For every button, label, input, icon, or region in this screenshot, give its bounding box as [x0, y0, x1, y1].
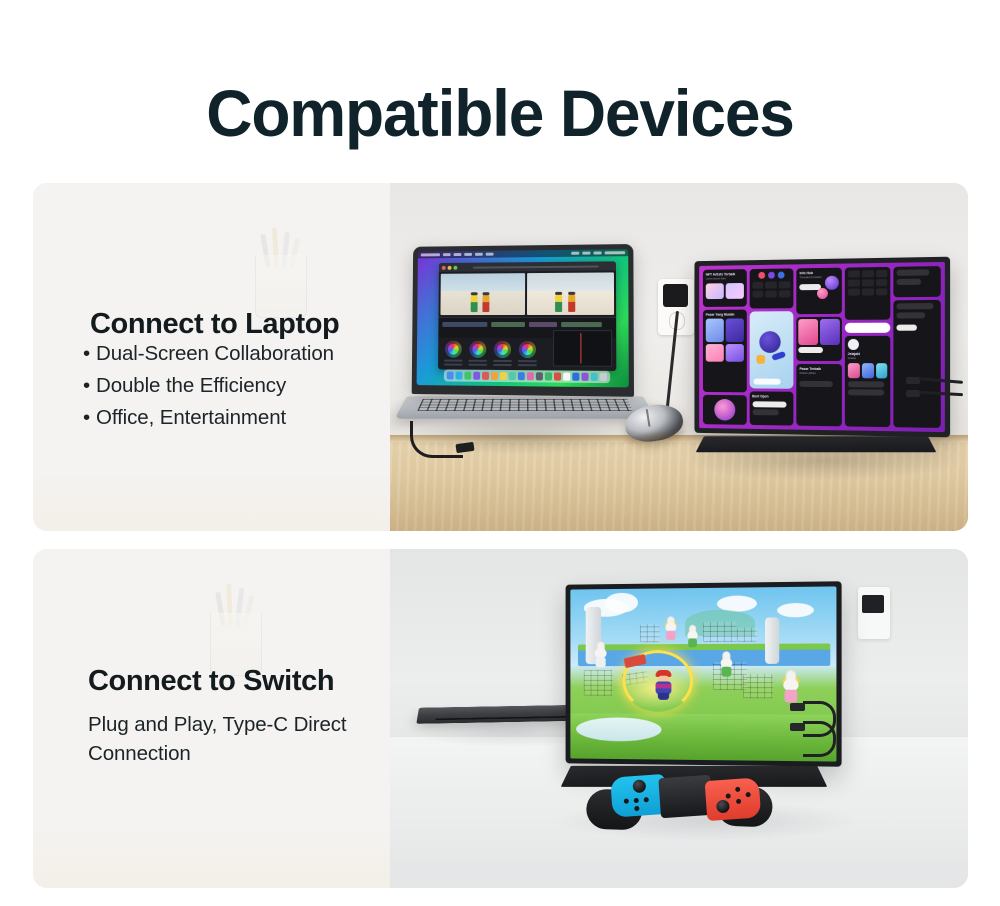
ui-card-nft-artists: NFT Artists Terbaik Lorem ipsum dolor: [703, 269, 746, 307]
ui-card-avatar: [703, 395, 746, 425]
brick-block: [640, 624, 660, 642]
panel-connect-to-switch: Connect to Switch Plug and Play, Type-C …: [33, 549, 968, 888]
character-mario: [654, 670, 672, 700]
ui-card-side-top: [894, 266, 941, 297]
ui-card-title: Pasar Yang Mudah: [706, 313, 744, 318]
mouse-seam: [646, 409, 651, 427]
power-adapter-icon: [663, 284, 688, 307]
monitor-bezel: NFT Artists Terbaik Lorem ipsum dolor Pa…: [694, 257, 950, 438]
ui-card-shortcuts: [749, 268, 793, 308]
panel-switch-heading: Connect to Switch: [88, 664, 334, 698]
ui-card-mascot-illustration: [749, 311, 793, 389]
color-wheel-lift: [445, 341, 462, 358]
bullet-icon: •: [83, 370, 96, 402]
ui-card-jelajahi: Jelajahi Koleksi: [845, 336, 891, 427]
list-item: • Office, Entertainment: [83, 402, 334, 434]
ui-card-info-hub: Info Hub Transaksi & koleksi: [797, 268, 842, 315]
program-viewer: [527, 272, 614, 315]
wall-outlet-icon: [858, 587, 890, 639]
character-rabbid-top: [665, 616, 678, 640]
cloud-icon: [777, 603, 814, 617]
panel-switch-subcopy: Plug and Play, Type-C Direct Connection: [88, 710, 378, 768]
bullet-icon: •: [83, 338, 96, 370]
ui-card-best-open: Best Open: [749, 391, 793, 425]
ui-card-title: Best Open: [752, 394, 790, 399]
right-analog-stick: [716, 800, 730, 814]
panel-laptop-feature-list: • Dual-Screen Collaboration • Double the…: [83, 338, 334, 434]
macos-dock: [444, 369, 610, 383]
ui-primary-button: [845, 323, 891, 333]
ui-column-3: Info Hub Transaksi & koleksi: [797, 268, 842, 427]
ui-card-side-bottom: [894, 300, 941, 428]
character-rabbid-green: [687, 625, 699, 647]
list-item-label: Office, Entertainment: [96, 402, 286, 434]
source-viewer: [440, 273, 525, 315]
ui-card-title: Pasar Terbaik: [799, 367, 838, 372]
laptop-lid: [412, 244, 634, 397]
character-rabbid-left: [594, 641, 608, 667]
left-analog-stick: [632, 779, 646, 793]
list-item-label: Dual-Screen Collaboration: [96, 338, 334, 370]
laptop-screen: [417, 249, 629, 387]
ui-card-pasar-yang-mudah: Pasar Yang Mudah: [703, 310, 746, 393]
character-rabbid-luigi: [720, 651, 733, 676]
upper-platform: [578, 643, 830, 666]
ui-card-pasar-terbaik: Pasar Terbaik Koleksi pilihan: [797, 364, 842, 426]
stone-pillar: [765, 617, 779, 664]
pencil-cup-watermark-icon: [188, 551, 284, 676]
panel-connect-to-laptop: Connect to Laptop • Dual-Screen Collabor…: [33, 183, 968, 531]
page-title: Compatible Devices: [15, 74, 985, 152]
ui-column-1: NFT Artists Terbaik Lorem ipsum dolor Pa…: [703, 269, 746, 425]
laptop-keyboard: [417, 399, 633, 411]
color-wheel-gamma: [469, 341, 486, 358]
brick-block: [743, 674, 773, 698]
panel-laptop-photo: NFT Artists Terbaik Lorem ipsum dolor Pa…: [390, 183, 968, 531]
portable-monitor-device: NFT Artists Terbaik Lorem ipsum dolor Pa…: [690, 259, 960, 471]
monitor-usb-c-ports: [790, 703, 854, 755]
ui-card-title: NFT Artists Terbaik: [706, 272, 744, 277]
laptop-device: [410, 245, 650, 445]
monitor-stand: [696, 436, 937, 452]
panel-laptop-text-column: Connect to Laptop • Dual-Screen Collabor…: [33, 183, 390, 531]
cloud-icon: [605, 593, 638, 613]
laptop-keyboard-base: [395, 396, 656, 418]
color-wheel-offset: [519, 341, 536, 358]
usb-c-cable: [410, 421, 463, 458]
ui-card-keypad: [845, 267, 891, 320]
monitor-usb-c-ports: [906, 377, 966, 407]
ui-card-title: Jelajahi: [848, 352, 888, 357]
brick-block: [584, 670, 613, 696]
brick-block: [703, 622, 737, 642]
macos-menu-bar: [418, 249, 628, 258]
ui-column-4: Jelajahi Koleksi: [845, 267, 891, 427]
video-scope: [553, 330, 612, 367]
brick-block: [737, 628, 757, 642]
pencil-cup-watermark-icon: [233, 193, 329, 318]
character-rabbid-peach: [782, 670, 800, 703]
bullet-icon: •: [83, 402, 96, 434]
joy-con-grip-controller: [584, 765, 774, 840]
list-item: • Dual-Screen Collaboration: [83, 338, 334, 370]
list-item: • Double the Efficiency: [83, 370, 334, 402]
color-wheel-gain: [494, 341, 511, 358]
ui-card-characters: [797, 317, 842, 361]
list-item-label: Double the Efficiency: [96, 370, 286, 402]
joy-con-right: [705, 777, 762, 821]
video-editor-viewers: [439, 270, 617, 317]
panel-switch-photo: [390, 549, 968, 888]
console-slot: [435, 716, 575, 720]
panel-laptop-heading: Connect to Laptop: [90, 307, 339, 341]
ui-column-2: Best Open: [749, 268, 793, 425]
power-adapter-icon: [862, 595, 884, 613]
video-editor-window: [438, 261, 616, 371]
panel-switch-text-column: Connect to Switch Plug and Play, Type-C …: [33, 549, 390, 888]
